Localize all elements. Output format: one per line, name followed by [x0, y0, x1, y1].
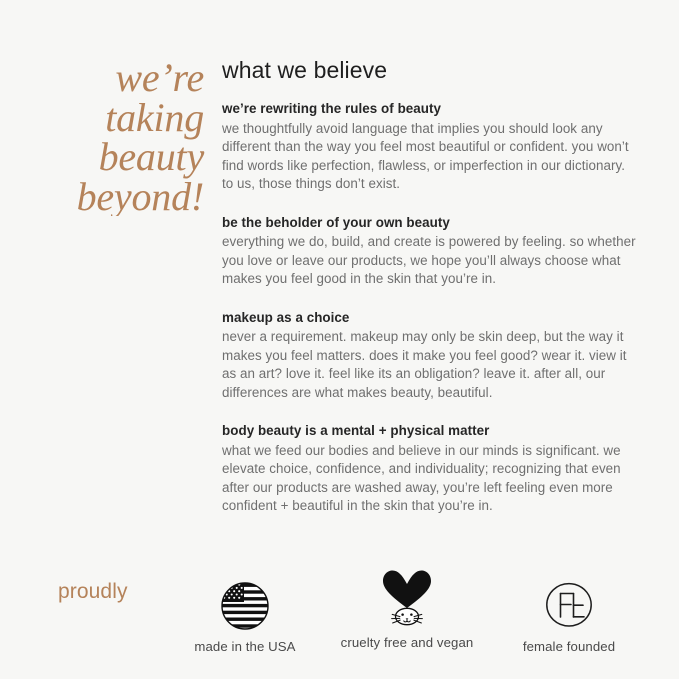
belief-body: everything we do, build, and create is p…	[222, 233, 639, 289]
badge-caption: made in the USA	[166, 639, 324, 654]
belief-item: we’re rewriting the rules of beauty we t…	[222, 99, 639, 193]
belief-body: what we feed our bodies and believe in o…	[222, 442, 639, 516]
belief-heading: body beauty is a mental + physical matte…	[222, 421, 639, 440]
headline-line-3: beauty	[0, 137, 204, 177]
badge-caption: cruelty free and vegan	[324, 635, 490, 650]
belief-item: makeup as a choice never a requirement. …	[222, 308, 639, 402]
female-founded-icon-wrap	[490, 572, 648, 630]
badge-female-founded: female founded	[490, 572, 648, 654]
beliefs-column: what we believe we’re rewriting the rule…	[205, 58, 679, 516]
belief-body: never a requirement. makeup may only be …	[222, 328, 639, 402]
belief-body: we thoughtfully avoid language that impl…	[222, 120, 639, 194]
belief-heading: makeup as a choice	[222, 308, 639, 327]
belief-item: body beauty is a mental + physical matte…	[222, 421, 639, 515]
brand-headline: we’re taking beauty beyond!	[0, 58, 205, 216]
female-founded-monogram-icon	[544, 580, 594, 630]
page-title: what we believe	[222, 58, 639, 83]
belief-item: be the beholder of your own beauty every…	[222, 213, 639, 289]
badge-caption: female founded	[490, 639, 648, 654]
belief-heading: be the beholder of your own beauty	[222, 213, 639, 232]
usa-flag-icon-wrap	[166, 572, 324, 630]
bunny-icon-wrap	[324, 568, 490, 626]
badge-made-in-usa: made in the USA	[166, 572, 324, 654]
top-content: we’re taking beauty beyond! what we beli…	[0, 58, 679, 516]
badge-cruelty-free: cruelty free and vegan	[324, 568, 490, 650]
cruelty-free-bunny-heart-icon	[380, 568, 434, 626]
headline-line-1: we’re	[0, 58, 204, 98]
proudly-label: proudly	[58, 580, 128, 604]
about-brand-panel: we’re taking beauty beyond! what we beli…	[0, 0, 679, 679]
usa-flag-circle-icon	[221, 582, 269, 630]
badge-row: proudly	[0, 560, 679, 670]
belief-heading: we’re rewriting the rules of beauty	[222, 99, 639, 118]
headline-line-4: beyond!	[0, 177, 204, 217]
headline-line-2: taking	[0, 98, 204, 138]
brand-headline-column: we’re taking beauty beyond!	[0, 58, 205, 216]
